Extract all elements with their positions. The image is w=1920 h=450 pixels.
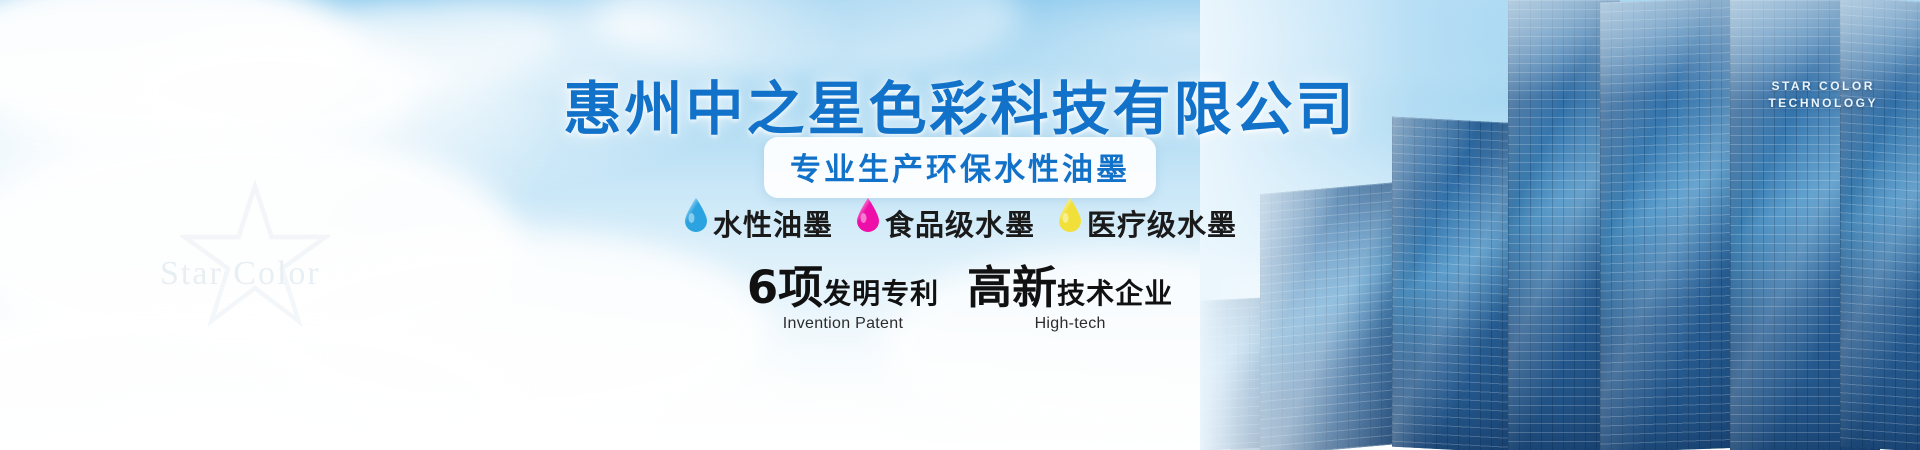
tagline-row: 专业生产环保水性油墨 <box>0 137 1920 198</box>
ink-product-item: 食品级水墨 <box>855 197 1035 244</box>
company-title: 惠州中之星色彩科技有限公司 <box>0 62 1920 146</box>
credential-subtext: 技术企业 <box>1057 277 1173 310</box>
credential-highlight: 6项 <box>747 261 823 314</box>
banner-content: 惠州中之星色彩科技有限公司 专业生产环保水性油墨 水性油墨食品级水墨医疗级水墨 … <box>0 0 1920 450</box>
ink-product-label: 医疗级水墨 <box>1087 202 1237 244</box>
ink-product-label: 水性油墨 <box>713 202 833 244</box>
credential-title: 6项发明专利 <box>747 265 939 311</box>
credential-badge: 高新技术企业High-tech <box>967 265 1173 333</box>
water-drop-icon <box>855 197 881 233</box>
promo-banner: Star Color STAR COLOR TECHNOLOGY 惠州中之星色彩… <box>0 0 1920 450</box>
credential-title: 高新技术企业 <box>967 265 1173 311</box>
ink-product-label: 食品级水墨 <box>885 202 1035 244</box>
credential-badge: 6项发明专利Invention Patent <box>747 265 939 333</box>
water-drop-icon <box>683 197 709 233</box>
credential-english: High-tech <box>967 315 1173 333</box>
ink-product-list: 水性油墨食品级水墨医疗级水墨 <box>0 197 1920 244</box>
water-drop-icon <box>683 197 709 238</box>
credential-list: 6项发明专利Invention Patent高新技术企业High-tech <box>0 265 1920 333</box>
water-drop-icon <box>855 197 881 238</box>
tagline-pill: 专业生产环保水性油墨 <box>764 137 1156 198</box>
ink-product-item: 医疗级水墨 <box>1057 197 1237 244</box>
credential-english: Invention Patent <box>747 315 939 333</box>
credential-subtext: 发明专利 <box>823 277 939 310</box>
water-drop-icon <box>1057 197 1083 238</box>
water-drop-icon <box>1057 197 1083 233</box>
credential-highlight: 高新 <box>967 261 1057 314</box>
ink-product-item: 水性油墨 <box>683 197 833 244</box>
